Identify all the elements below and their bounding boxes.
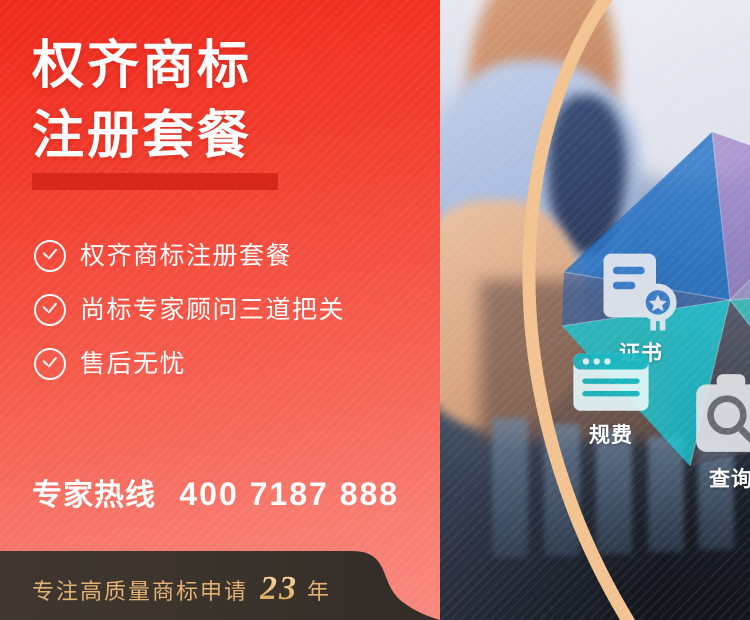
feature-label: 尚标专家顾问三道把关	[80, 295, 345, 325]
service-wheel: R 设计 证书 规费 查询	[560, 130, 750, 470]
hotline-label: 专家热线	[32, 479, 156, 512]
feature-label: 售后无忧	[80, 349, 186, 379]
ribbon-suffix: 年	[307, 574, 331, 606]
title-line-2: 注册套餐	[32, 101, 252, 171]
wheel-label-fees: 规费	[568, 348, 654, 449]
feature-list: 权齐商标注册套餐 尚标专家顾问三道把关 售后无忧	[34, 240, 454, 402]
list-item: 售后无忧	[34, 348, 454, 380]
browser-window-icon	[568, 348, 654, 416]
ribbon-text: 专注高质量商标申请 23 年	[32, 570, 331, 608]
title-line-1: 权齐商标	[32, 31, 252, 101]
bottom-ribbon: 专注高质量商标申请 23 年	[0, 551, 470, 620]
check-circle-icon	[34, 294, 66, 326]
wheel-label-fees-text: 规费	[589, 424, 633, 447]
wheel-label-search-text: 查询	[709, 468, 750, 491]
list-item: 尚标专家顾问三道把关	[34, 294, 454, 326]
ribbon-prefix: 专注高质量商标申请	[32, 574, 248, 606]
feature-label: 权齐商标注册套餐	[80, 241, 292, 271]
ribbon-years: 23	[260, 570, 298, 608]
wheel-label-search: 查询	[688, 370, 750, 493]
check-circle-icon	[34, 348, 66, 380]
page-title: 权齐商标 注册套餐	[0, 0, 470, 210]
certificate-seal-icon	[596, 248, 686, 334]
hotline: 专家热线 400 7187 888	[32, 470, 399, 514]
check-circle-icon	[34, 240, 66, 272]
promo-banner: R 设计 证书 规费 查询	[0, 0, 750, 620]
search-box-icon	[688, 370, 750, 460]
title-underline-bar	[32, 173, 278, 190]
hotline-number[interactable]: 400 7187 888	[179, 476, 399, 512]
left-content: 权齐商标 注册套餐 权齐商标注册套餐 尚标专家顾问三道把关 售后无忧 专家热线 …	[0, 0, 470, 620]
title-text: 权齐商标 注册套餐	[32, 31, 252, 171]
list-item: 权齐商标注册套餐	[34, 240, 454, 272]
